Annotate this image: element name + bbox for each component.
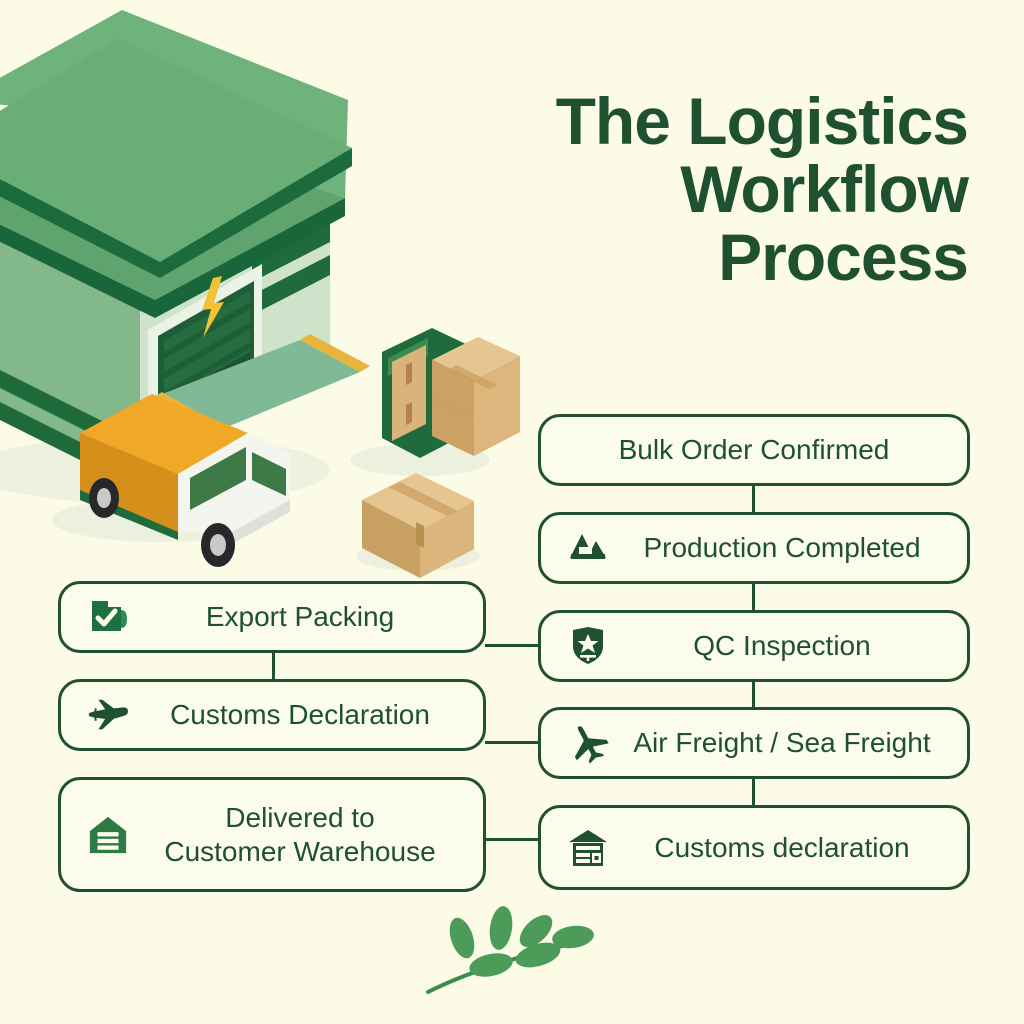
flow-node-delivered-to-customer-warehouse[interactable]: Delivered to Customer Warehouse (58, 777, 486, 892)
box-check-icon (87, 596, 129, 638)
pallet-shelf-with-boxes (350, 328, 520, 476)
cardboard-box (356, 473, 480, 578)
flow-node-customs-declaration-right[interactable]: Customs declaration (538, 805, 970, 890)
connector-freight-to-customs (752, 777, 755, 807)
flow-node-export-packing[interactable]: Export Packing (58, 581, 486, 653)
flow-node-label: Export Packing (129, 600, 483, 633)
flow-node-label: Customs declaration (609, 831, 967, 864)
connector-qc-to-freight (752, 679, 755, 709)
title-line-1: The Logistics (368, 88, 968, 156)
connector-production-to-qc (752, 582, 755, 612)
connector-freight-to-declaration (485, 741, 540, 744)
flow-node-label: QC Inspection (609, 629, 967, 662)
flow-node-bulk-order-confirmed[interactable]: Bulk Order Confirmed (538, 414, 970, 486)
flow-node-customs-declaration-left[interactable]: Customs Declaration (58, 679, 486, 751)
title-line-3: Process (368, 224, 968, 292)
airplane-side-icon (87, 694, 129, 736)
flow-node-qc-inspection[interactable]: QC Inspection (538, 610, 970, 682)
warehouse-icon (87, 814, 129, 856)
flow-node-label: Delivered to Customer Warehouse (129, 801, 483, 867)
warehouse-building-icon (567, 827, 609, 869)
factory-icon (567, 527, 609, 569)
connector-qc-to-packing (485, 644, 540, 647)
connector-packing-to-declaration (272, 651, 275, 681)
flow-node-label-line-1: Delivered to (225, 802, 374, 833)
flow-node-production-completed[interactable]: Production Completed (538, 512, 970, 584)
flow-node-label-line-2: Customer Warehouse (133, 835, 467, 868)
shield-star-icon (567, 625, 609, 667)
flow-node-label: Bulk Order Confirmed (541, 433, 967, 466)
title-line-2: Workflow (368, 156, 968, 224)
flow-node-label: Air Freight / Sea Freight (609, 726, 967, 759)
flow-node-label: Production Completed (609, 531, 967, 564)
page-title: The Logistics Workflow Process (368, 88, 968, 292)
connector-customs-to-delivered (485, 838, 540, 841)
airplane-icon (567, 722, 609, 764)
flow-node-air-sea-freight[interactable]: Air Freight / Sea Freight (538, 707, 970, 779)
olive-branch-icon (418, 900, 608, 1010)
infographic-canvas: The Logistics Workflow Process Bulk Orde… (0, 0, 1024, 1024)
flow-node-label: Customs Declaration (129, 698, 483, 731)
